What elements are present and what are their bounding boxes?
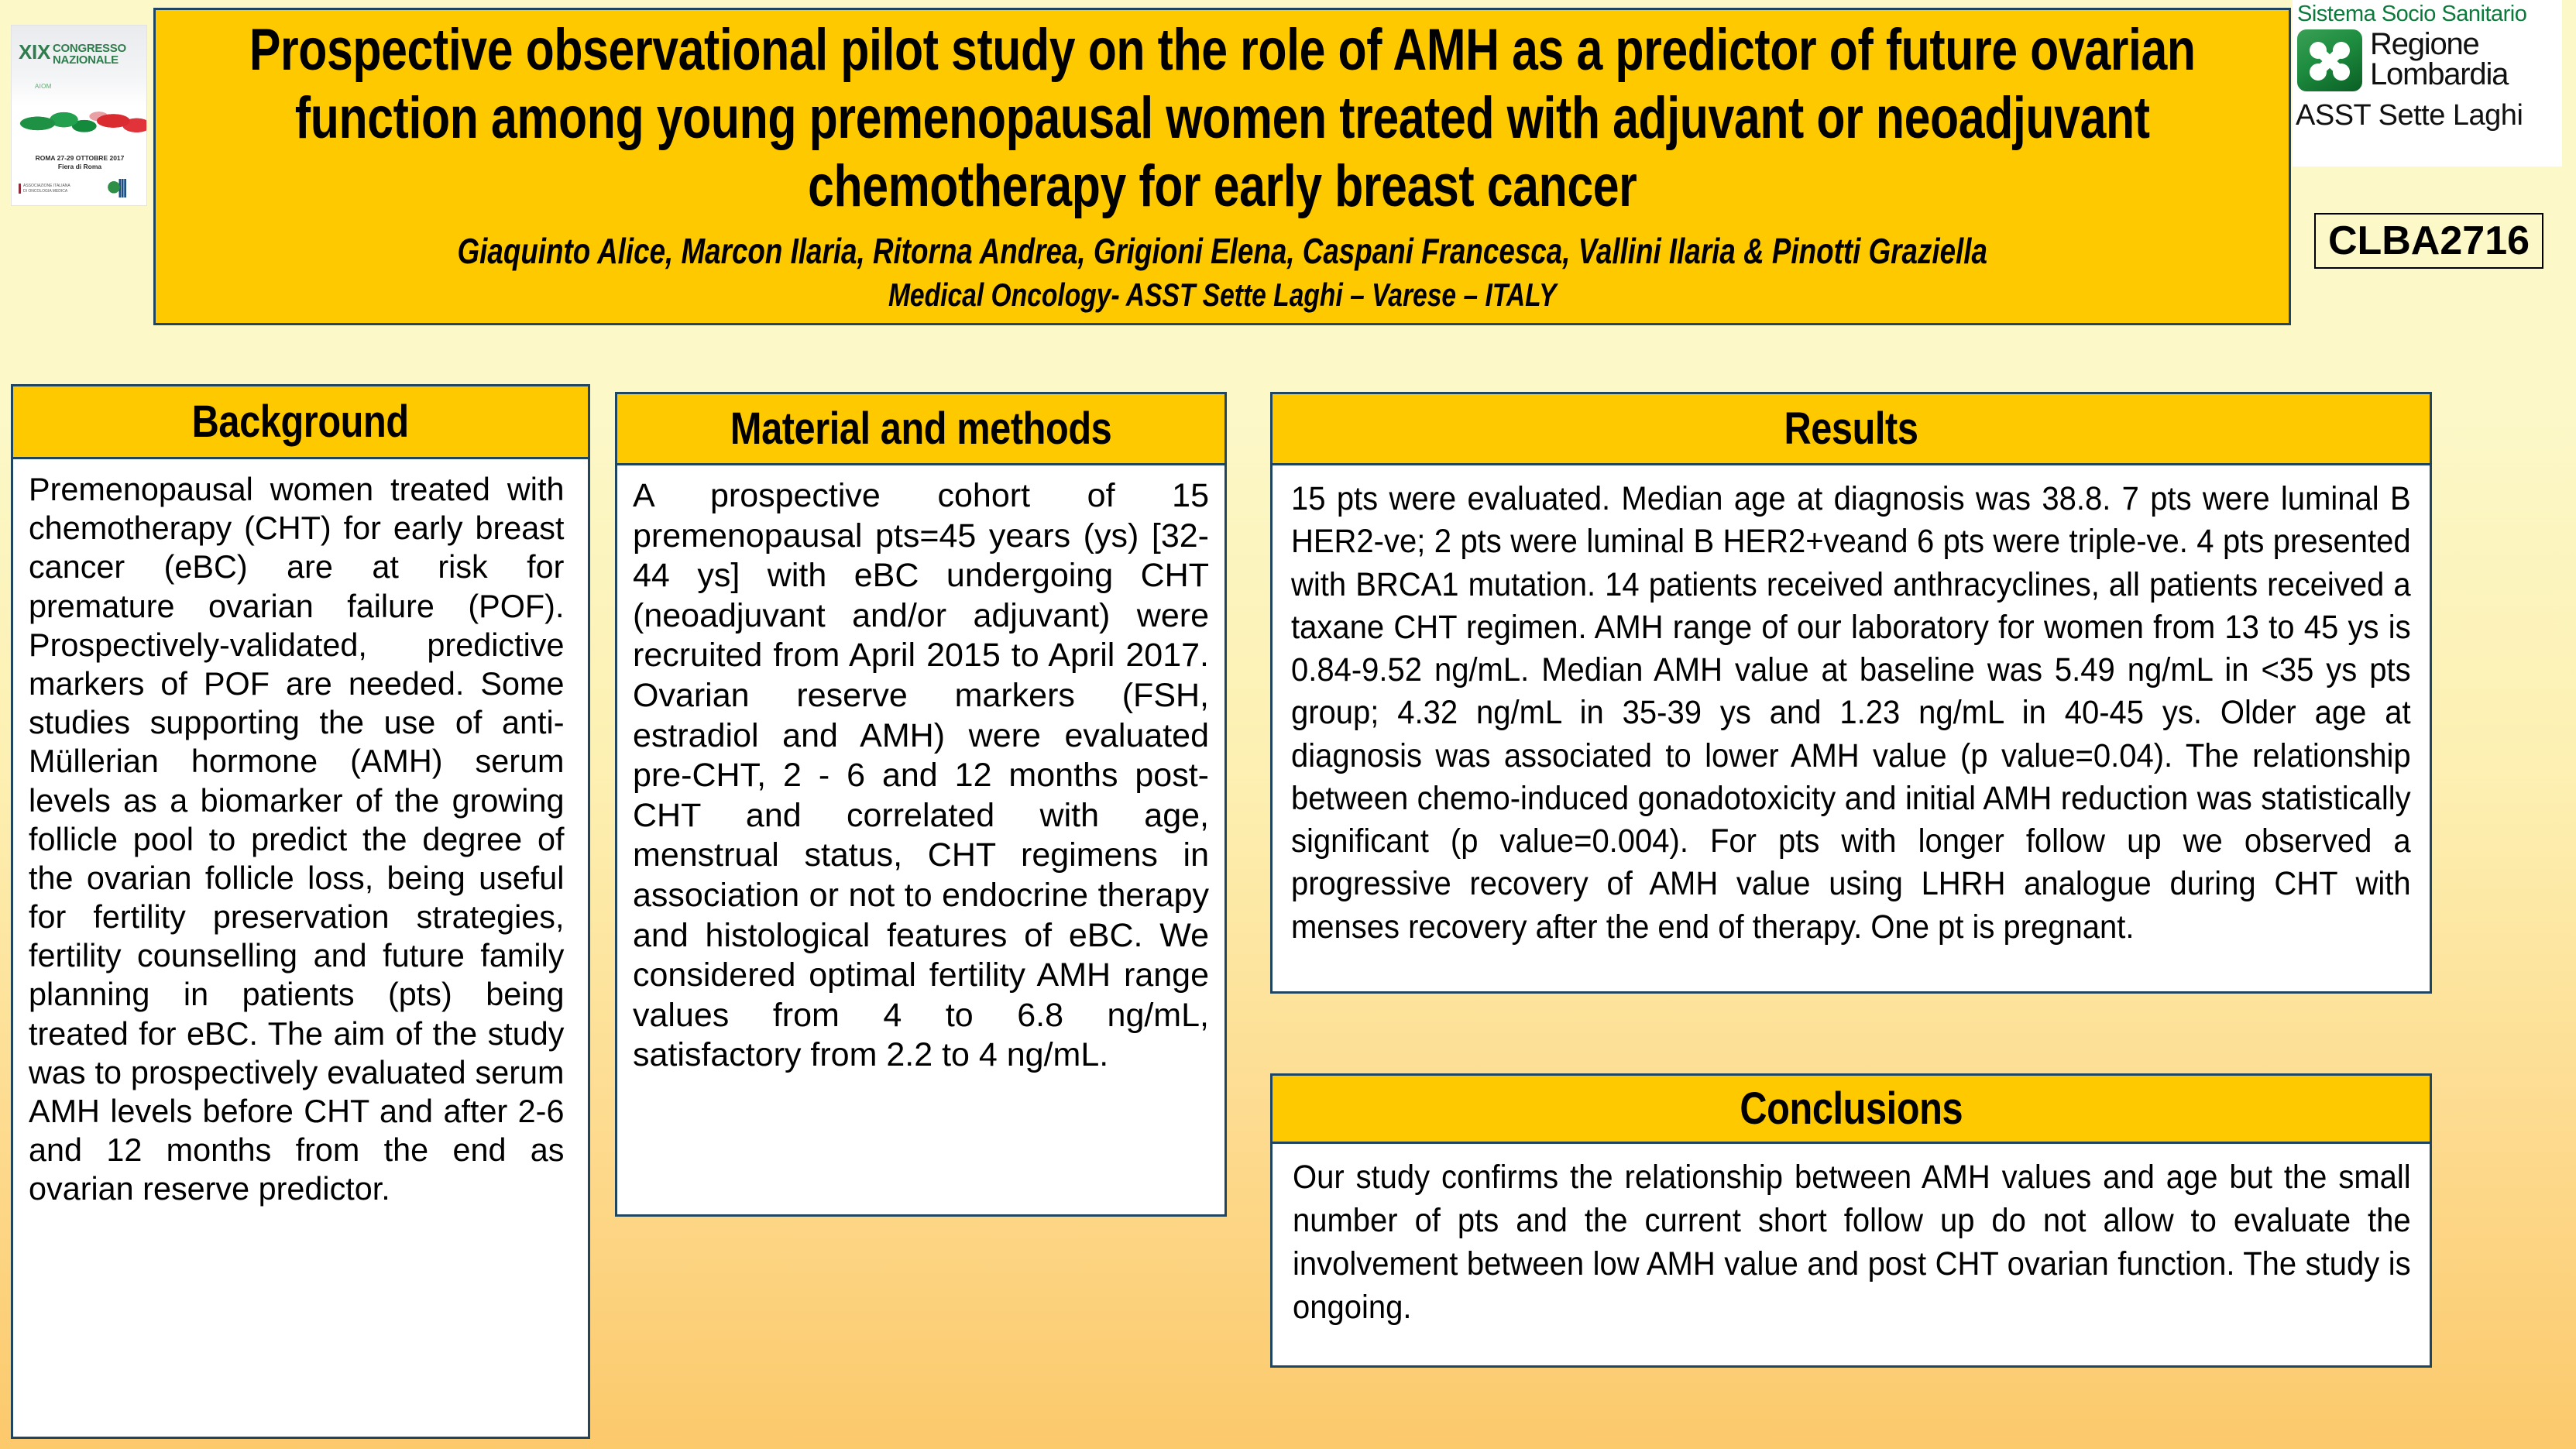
congress-logo-place-line1: ROMA 27-29 OTTOBRE 2017 (36, 154, 125, 162)
section-results-text: 15 pts were evaluated. Median age at dia… (1291, 478, 2411, 949)
institution-logo: Sistema Socio Sanitario Regione Lombardi… (2293, 0, 2562, 167)
section-methods: Material and methods A prospective cohor… (615, 392, 1227, 1217)
section-conclusions-heading: Conclusions (1740, 1083, 1963, 1135)
title-block: Prospective observational pilot study on… (153, 8, 2291, 325)
congress-logo-footer-left: ASSOCIAZIONE ITALIANA DI ONCOLOGIA MEDIC… (19, 184, 70, 194)
congress-logo-roman: XIX (19, 43, 50, 62)
congress-logo-title-line2: NAZIONALE (53, 53, 118, 67)
congress-logo-footer-left-line1: ASSOCIAZIONE ITALIANA (23, 184, 70, 188)
congress-logo-place: ROMA 27-29 OTTOBRE 2017 Fiera di Roma (33, 154, 126, 170)
poster-header: XIX CONGRESSO NAZIONALE AIOM ROMA 27-29 … (0, 0, 2576, 338)
author-list: Giaquinto Alice, Marcon Ilaria, Ritorna … (174, 230, 2270, 272)
section-methods-header: Material and methods (617, 394, 1224, 465)
congress-logo-title: XIX CONGRESSO NAZIONALE (19, 43, 143, 66)
abstract-id-text: CLBA2716 (2328, 218, 2530, 264)
section-methods-body: A prospective cohort of 15 premenopausal… (617, 465, 1224, 1214)
congress-logo-subtitle: AIOM (35, 83, 52, 90)
institution-logo-top-line: Sistema Socio Sanitario (2297, 2, 2526, 27)
section-conclusions: Conclusions Our study confirms the relat… (1270, 1073, 2432, 1368)
section-methods-heading: Material and methods (730, 403, 1111, 455)
section-background-body: Premenopausal women treated with chemoth… (13, 459, 588, 1437)
page-title: Prospective observational pilot study on… (174, 16, 2270, 221)
institution-logo-bottom-line: ASST Sette Laghi (2296, 99, 2523, 132)
section-background: Background Premenopausal women treated w… (11, 384, 590, 1439)
section-methods-text: A prospective cohort of 15 premenopausal… (633, 476, 1209, 1076)
institution-logo-brand-line1: Regione (2370, 29, 2508, 60)
affiliation-line: Medical Oncology- ASST Sette Laghi – Var… (174, 276, 2270, 314)
aiom-mark-icon (107, 179, 130, 197)
section-background-text: Premenopausal women treated with chemoth… (29, 470, 564, 1209)
section-results-heading: Results (1784, 403, 1918, 455)
section-conclusions-body: Our study confirms the relationship betw… (1273, 1144, 2430, 1365)
abstract-id-badge: CLBA2716 (2314, 213, 2543, 269)
institution-logo-brand-line2: Lombardia (2370, 60, 2508, 90)
section-results-body: 15 pts were evaluated. Median age at dia… (1273, 465, 2430, 991)
congress-logo-footer-left-line2: DI ONCOLOGIA MEDICA (23, 189, 67, 194)
congress-logo-footer-right: AIOM (98, 179, 139, 206)
section-conclusions-header: Conclusions (1273, 1076, 2430, 1144)
lombardia-rose-icon (2297, 29, 2362, 91)
institution-logo-brand: Regione Lombardia (2370, 29, 2508, 90)
section-conclusions-text: Our study confirms the relationship betw… (1293, 1156, 2411, 1330)
italy-flag-artwork (11, 103, 147, 140)
congress-logo-image: XIX CONGRESSO NAZIONALE AIOM ROMA 27-29 … (11, 25, 147, 206)
section-results-header: Results (1273, 394, 2430, 465)
section-results: Results 15 pts were evaluated. Median ag… (1270, 392, 2432, 994)
section-background-header: Background (13, 386, 588, 459)
congress-logo-place-line2: Fiera di Roma (58, 163, 101, 170)
section-background-heading: Background (192, 396, 409, 448)
